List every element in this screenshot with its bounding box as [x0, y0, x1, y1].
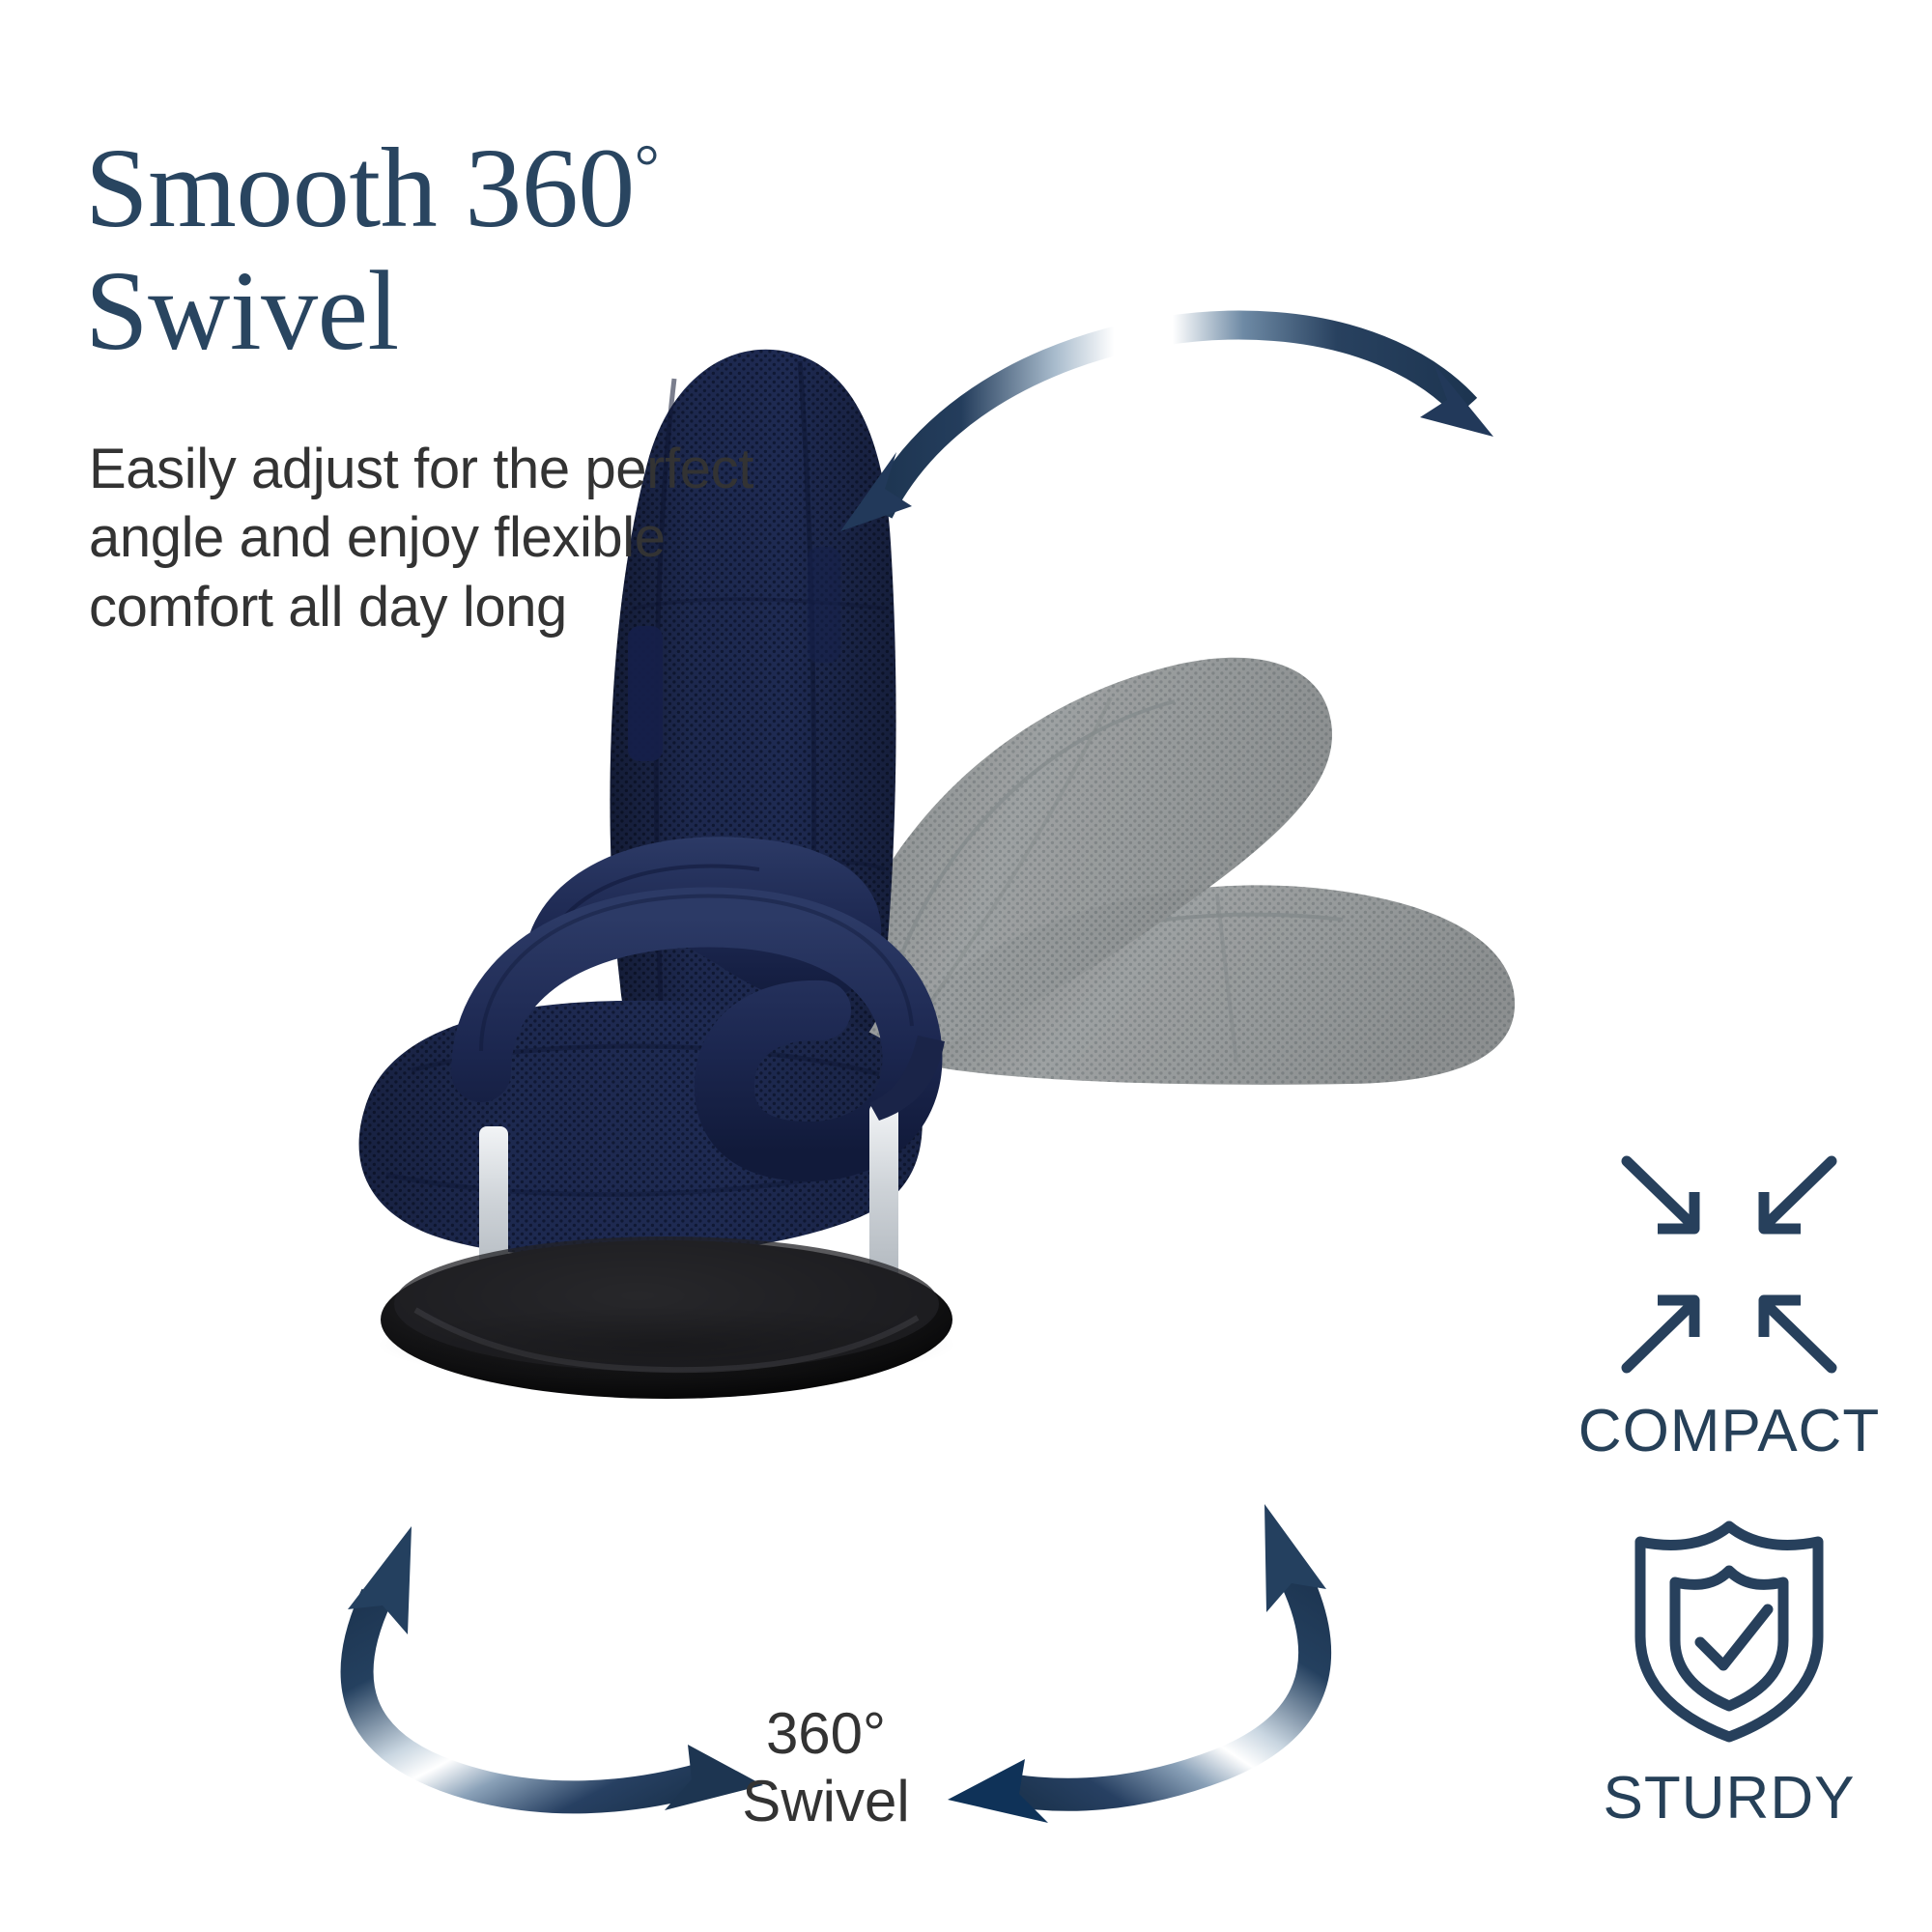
- compact-arrows-icon: [1613, 1150, 1845, 1379]
- feature-compact-label: COMPACT: [1546, 1397, 1913, 1465]
- page-title: Smooth 360°Swivel: [85, 127, 954, 373]
- headline-line-2: Swivel: [85, 247, 399, 374]
- headline-degree-symbol: °: [635, 132, 659, 202]
- swivel-caption-line-1: 360°: [766, 1701, 886, 1766]
- feature-compact: COMPACT: [1546, 1150, 1913, 1465]
- swivel-right-double-arrow: [942, 1492, 1348, 1860]
- headline-line-1: Smooth 360: [85, 125, 635, 251]
- infographic-canvas: Smooth 360°Swivel Easily adjust for the …: [0, 0, 1932, 1932]
- subheadline: Easily adjust for the perfect angle and …: [89, 435, 862, 641]
- swivel-caption: 360° Swivel: [667, 1700, 985, 1834]
- feature-sturdy: STURDY: [1546, 1517, 1913, 1833]
- swivel-caption-line-2: Swivel: [742, 1769, 909, 1833]
- feature-sturdy-label: STURDY: [1546, 1764, 1913, 1833]
- shield-check-icon: [1629, 1517, 1830, 1747]
- chair-swivel-base: [377, 1236, 956, 1399]
